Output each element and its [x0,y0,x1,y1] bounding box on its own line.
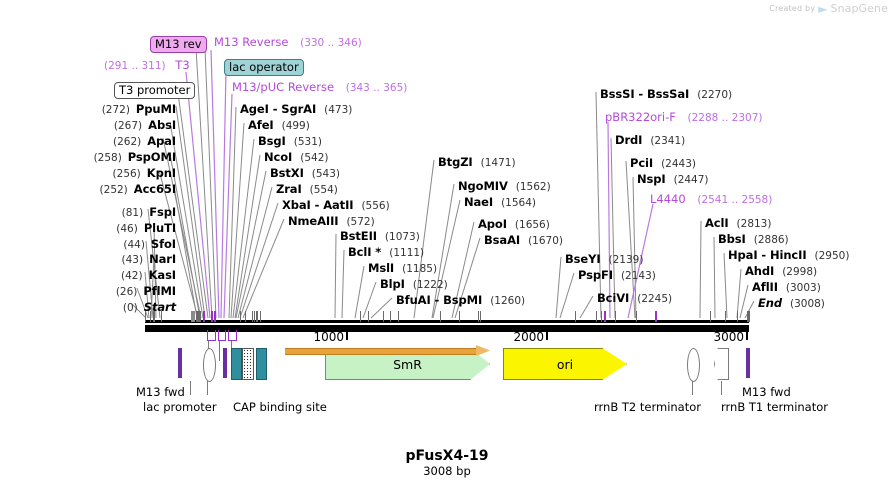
site-tick [360,311,361,322]
enzyme-label-bsgi[interactable]: BsgI(531) [258,134,322,148]
enzyme-label-kpni[interactable]: (256)KpnI [113,166,176,180]
primer-t3-name: T3 [175,58,189,72]
enzyme-name: BstEII [340,229,377,243]
enzyme-position: (1656) [515,219,550,231]
enzyme-name: End [758,296,782,310]
enzyme-label-bsaai[interactable]: BsaAI(1670) [484,233,563,247]
bottom-label-rrnb-t2-terminator[interactable]: rrnB T2 terminator [594,400,701,414]
enzyme-name: Acc65I [134,182,176,196]
enzyme-label-bcli[interactable]: BclI *(1111) [348,245,424,259]
enzyme-label-bcivi[interactable]: BciVI(2245) [597,291,672,305]
ruler-label: 3000 [686,330,744,344]
enzyme-position: (42) [121,270,143,282]
enzyme-position: (81) [122,207,144,219]
primer-tick [604,311,606,322]
enzyme-name: BbsI [718,232,746,246]
enzyme-label-bsteii[interactable]: BstEII(1073) [340,229,420,243]
enzyme-position: (2443) [661,158,696,170]
feature-arrow-smr-label: SmR [393,357,422,372]
enzyme-position: (1260) [490,295,525,307]
enzyme-label-bbsi[interactable]: BbsI(2886) [718,232,789,246]
primer-l4440-name: L4440 [650,192,686,206]
feature-glyph-m13-fwd-left[interactable] [178,348,182,378]
primer-tick [214,311,216,322]
primer-tick [211,311,213,322]
enzyme-label-start[interactable]: (0)Start [123,300,176,314]
enzyme-name: AfeI [248,118,274,132]
enzyme-position: (43) [122,254,144,266]
bottom-label-cap-binding-site[interactable]: CAP binding site [233,400,327,414]
site-tick [615,311,616,322]
enzyme-position: (1564) [501,197,536,209]
enzyme-position: (256) [113,168,141,180]
page-title: pFusX4-19 [0,448,894,464]
enzyme-name: PpuMI [136,102,176,116]
bottom-lead-tick-lac-promoter [190,381,191,395]
enzyme-name: PluTI [144,221,176,235]
enzyme-label-zrai[interactable]: ZraI(554) [276,182,338,196]
enzyme-name: BssSI - BssSaI [600,87,689,101]
site-tick [383,311,384,322]
enzyme-position: (542) [300,152,328,164]
site-tick [257,311,258,322]
bottom-label-m13-fwd[interactable]: M13 fwd [136,385,185,399]
enzyme-name: AflII [752,280,778,294]
enzyme-name: NaeI [464,195,493,209]
enzyme-position: (258) [94,152,122,164]
enzyme-name: AclI [705,216,729,230]
enzyme-label-msli[interactable]: MslI(1185) [368,261,437,275]
enzyme-position: (1471) [481,157,516,169]
enzyme-name: AhdI [745,264,774,278]
bottom-lead-tick-rrnb-t2 [692,381,693,395]
primer-tick [203,311,205,322]
feature-label-t3-promoter-text: T3 promoter [114,82,195,99]
enzyme-label-naei[interactable]: NaeI(1564) [464,195,536,209]
enzyme-label-ahdi[interactable]: AhdI(2998) [745,264,817,278]
site-tick [199,311,200,322]
enzyme-name: ApaI [147,134,176,148]
enzyme-label-blpi[interactable]: BlpI(1222) [380,277,448,291]
primer-tick [655,311,657,322]
site-tick [197,311,198,322]
ruler-label: 1000 [286,330,344,344]
enzyme-name: NcoI [264,150,292,164]
site-tick [480,311,481,322]
enzyme-position: (2813) [737,218,772,230]
site-tick [245,311,246,322]
enzyme-position: (2886) [754,234,789,246]
site-tick [749,311,750,322]
enzyme-position: (473) [324,104,352,116]
site-tick [196,311,197,322]
site-tick [198,311,199,322]
enzyme-label-ngomiv[interactable]: NgoMIV(1562) [458,179,551,193]
site-tick [260,311,261,322]
enzyme-label-pcii[interactable]: PciI(2443) [630,156,696,170]
enzyme-position: (2447) [674,174,709,186]
enzyme-name: SfoI [151,237,176,251]
enzyme-name: KpnI [147,166,176,180]
enzyme-name: PspFI [578,268,613,282]
enzyme-position: (3003) [786,282,821,294]
enzyme-label-ppumi[interactable]: (272)PpuMI [102,102,176,116]
enzyme-label-pspfi[interactable]: PspFI(2143) [578,268,656,282]
primer-m13-reverse-range: (330 .. 346) [300,37,362,49]
enzyme-position: (1222) [413,279,448,291]
feature-label-m13-rev-text: M13 rev [150,36,207,53]
site-tick [254,311,255,322]
enzyme-name: BtgZI [438,155,473,169]
enzyme-position: (44) [123,239,145,251]
enzyme-name: PspOMI [128,150,176,164]
enzyme-label-drdi[interactable]: DrdI(2341) [615,133,685,147]
enzyme-label-aflii[interactable]: AflII(3003) [752,280,821,294]
primer-bracket-m13-reverse [218,330,226,341]
enzyme-label-afei[interactable]: AfeI(499) [248,118,310,132]
enzyme-name: BstXI [270,166,304,180]
primer-bracket-m13-puc-reverse [228,330,237,341]
enzyme-label-apai[interactable]: (262)ApaI [113,134,176,148]
enzyme-label-fspi[interactable]: (81)FspI [122,205,176,219]
primer-pbr322ori-f-range: (2288 .. 2307) [688,112,763,124]
enzyme-position: (46) [116,223,138,235]
promoter-arrow-shaft [285,348,477,355]
enzyme-label-acli[interactable]: AclI(2813) [705,216,771,230]
enzyme-position: (3008) [790,298,825,310]
enzyme-label-pluti[interactable]: (46)PluTI [116,221,176,235]
enzyme-label-acc65i[interactable]: (252)Acc65I [100,182,176,196]
enzyme-position: (2139) [609,254,644,266]
bottom-label-rrnb-t1-terminator[interactable]: rrnB T1 terminator [721,400,828,414]
enzyme-position: (262) [113,136,141,148]
plasmid-length: 3008 bp [0,464,894,478]
enzyme-name: BlpI [380,277,405,291]
enzyme-name: NgoMIV [458,179,508,193]
enzyme-position: (499) [282,120,310,132]
site-tick [478,311,479,322]
enzyme-position: (1185) [402,263,437,275]
enzyme-position: (272) [102,104,130,116]
enzyme-name: BseYI [565,252,601,266]
site-tick [737,311,738,322]
enzyme-position: (2270) [697,89,732,101]
feature-arrow-ori-label: ori [557,357,573,372]
site-tick [636,311,637,322]
enzyme-position: (1562) [516,181,551,193]
enzyme-label-end[interactable]: End(3008) [758,296,825,310]
bottom-lead-tick-cap [207,381,208,395]
enzyme-position: (1073) [385,231,420,243]
primer-bracket-t3 [207,330,216,341]
enzyme-name: XbaI - AatII [282,198,353,212]
enzyme-name: BciVI [597,291,629,305]
feature-label-m13-rev[interactable]: M13 rev [150,33,207,53]
enzyme-name: PciI [630,156,653,170]
site-tick [398,311,399,322]
enzyme-position: (2998) [782,266,817,278]
enzyme-label-absi[interactable]: (267)AbsI [114,118,176,132]
enzyme-name: ApoI [478,217,507,231]
enzyme-name: BclI * [348,245,381,259]
primer-t3[interactable]: (291 .. 311) T3 [104,58,190,72]
site-tick [601,311,602,322]
feature-glyph-teal-2[interactable] [256,348,267,380]
site-tick [725,311,726,322]
enzyme-name: KasI [149,268,176,282]
bottom-label-m13-fwd[interactable]: M13 fwd [742,385,791,399]
ruler-tick [346,332,348,340]
site-tick [368,311,369,322]
feature-lead-tick-2 [219,341,220,361]
enzyme-position: (26) [116,286,138,298]
enzyme-position: (556) [361,200,389,212]
site-tick [200,311,201,322]
enzyme-name: Start [144,300,176,314]
enzyme-position: (531) [294,136,322,148]
enzyme-position: (2950) [815,250,850,262]
primer-t3-range: (291 .. 311) [104,60,166,72]
enzyme-label-nari[interactable]: (43)NarI [122,252,177,266]
feature-label-t3-promoter[interactable]: T3 promoter [114,79,195,99]
site-tick [596,311,597,322]
site-tick [252,311,253,322]
enzyme-position: (543) [312,168,340,180]
enzyme-label-bstxi[interactable]: BstXI(543) [270,166,340,180]
site-tick-block [191,311,195,322]
enzyme-label-btgzi[interactable]: BtgZI(1471) [438,155,516,169]
enzyme-position: (1111) [389,247,424,259]
bottom-lead-tick-rrnb-t1 [721,381,722,395]
enzyme-label-hpai-hincii[interactable]: HpaI - HincII(2950) [728,248,849,262]
enzyme-position: (252) [100,184,128,196]
feature-glyph-lac-operator[interactable] [231,348,242,380]
enzyme-position: (2143) [621,270,656,282]
primer-l4440[interactable]: L4440 (2541 .. 2558) [650,192,772,206]
enzyme-label-bfuai-bspmi[interactable]: BfuAI - BspMI(1260) [396,293,525,307]
primer-m13-puc-reverse-range: (343 .. 365) [346,82,408,94]
site-tick [390,311,391,322]
enzyme-position: (2341) [650,135,685,147]
enzyme-name: MslI [368,261,394,275]
enzyme-name: AbsI [148,118,176,132]
feature-glyph-primer-violet[interactable] [223,348,227,378]
promoter-arrow-head-icon [476,345,490,356]
enzyme-name: HpaI - HincII [728,248,807,262]
enzyme-label-xbai-aatii[interactable]: XbaI - AatII(556) [282,198,390,212]
enzyme-position: (2245) [637,293,672,305]
feature-arrow-ori[interactable]: ori [503,348,627,380]
enzyme-name: PflMI [143,284,176,298]
feature-glyph-lac-promoter[interactable] [203,348,216,382]
ruler-tick [546,332,548,340]
site-tick [440,311,441,322]
enzyme-name: AgeI - SgrAI [240,102,316,116]
enzyme-position: (572) [346,216,374,228]
enzyme-name: DrdI [615,133,642,147]
primer-l4440-range: (2541 .. 2558) [697,194,772,206]
enzyme-position: (1670) [528,235,563,247]
ruler-label: 2000 [486,330,544,344]
primer-m13-puc-reverse-name: M13/pUC Reverse [232,80,334,94]
enzyme-name: BsaAI [484,233,520,247]
enzyme-name: BsgI [258,134,286,148]
enzyme-position: (0) [123,302,138,314]
feature-label-lac-operator-text: lac operator [224,59,304,76]
enzyme-label-agei-sgrai[interactable]: AgeI - SgrAI(473) [240,102,352,116]
feature-glyph-m13-fwd-right[interactable] [746,348,750,378]
enzyme-label-bsssi-bsssai[interactable]: BssSI - BssSaI(2270) [600,87,732,101]
feature-arrow-promoter[interactable] [285,345,490,356]
bottom-label-lac-promoter[interactable]: lac promoter [143,400,217,414]
site-tick [459,311,460,322]
site-tick [575,311,576,322]
enzyme-position: (554) [310,184,338,196]
enzyme-label-nspi[interactable]: NspI(2447) [637,172,709,186]
enzyme-label-pspomi[interactable]: (258)PspOMI [94,150,176,164]
enzyme-position: (267) [114,120,142,132]
enzyme-label-kasi[interactable]: (42)KasI [121,268,176,282]
enzyme-name: NarI [149,252,176,266]
primer-m13-reverse[interactable]: M13 Reverse (330 .. 346) [214,35,362,49]
primer-pbr322ori-f[interactable]: pBR322ori-F (2288 .. 2307) [605,110,763,124]
enzyme-label-ncoi[interactable]: NcoI(542) [264,150,328,164]
primer-m13-puc-reverse[interactable]: M13/pUC Reverse (343 .. 365) [232,80,407,94]
enzyme-name: NspI [637,172,666,186]
enzyme-label-nmeaiii[interactable]: NmeAIII(572) [288,214,375,228]
primer-m13-reverse-name: M13 Reverse [214,35,288,49]
enzyme-name: BfuAI - BspMI [396,293,482,307]
enzyme-name: NmeAIII [288,214,338,228]
enzyme-name: ZraI [276,182,302,196]
feature-label-lac-operator[interactable]: lac operator [224,56,304,76]
ruler-tick [746,332,748,340]
enzyme-label-apoi[interactable]: ApoI(1656) [478,217,550,231]
enzyme-label-bseyi[interactable]: BseYI(2139) [565,252,643,266]
site-tick [710,311,711,322]
site-tick [240,311,241,322]
enzyme-label-sfoi[interactable]: (44)SfoI [123,237,176,251]
enzyme-label-pflmi[interactable]: (26)PflMI [116,284,176,298]
feature-glyph-cap-binding-site[interactable] [242,348,254,380]
feature-glyph-rrnb-t2-terminator[interactable] [687,348,700,382]
primer-pbr322ori-f-name: pBR322ori-F [605,110,676,124]
enzyme-name: FspI [149,205,176,219]
